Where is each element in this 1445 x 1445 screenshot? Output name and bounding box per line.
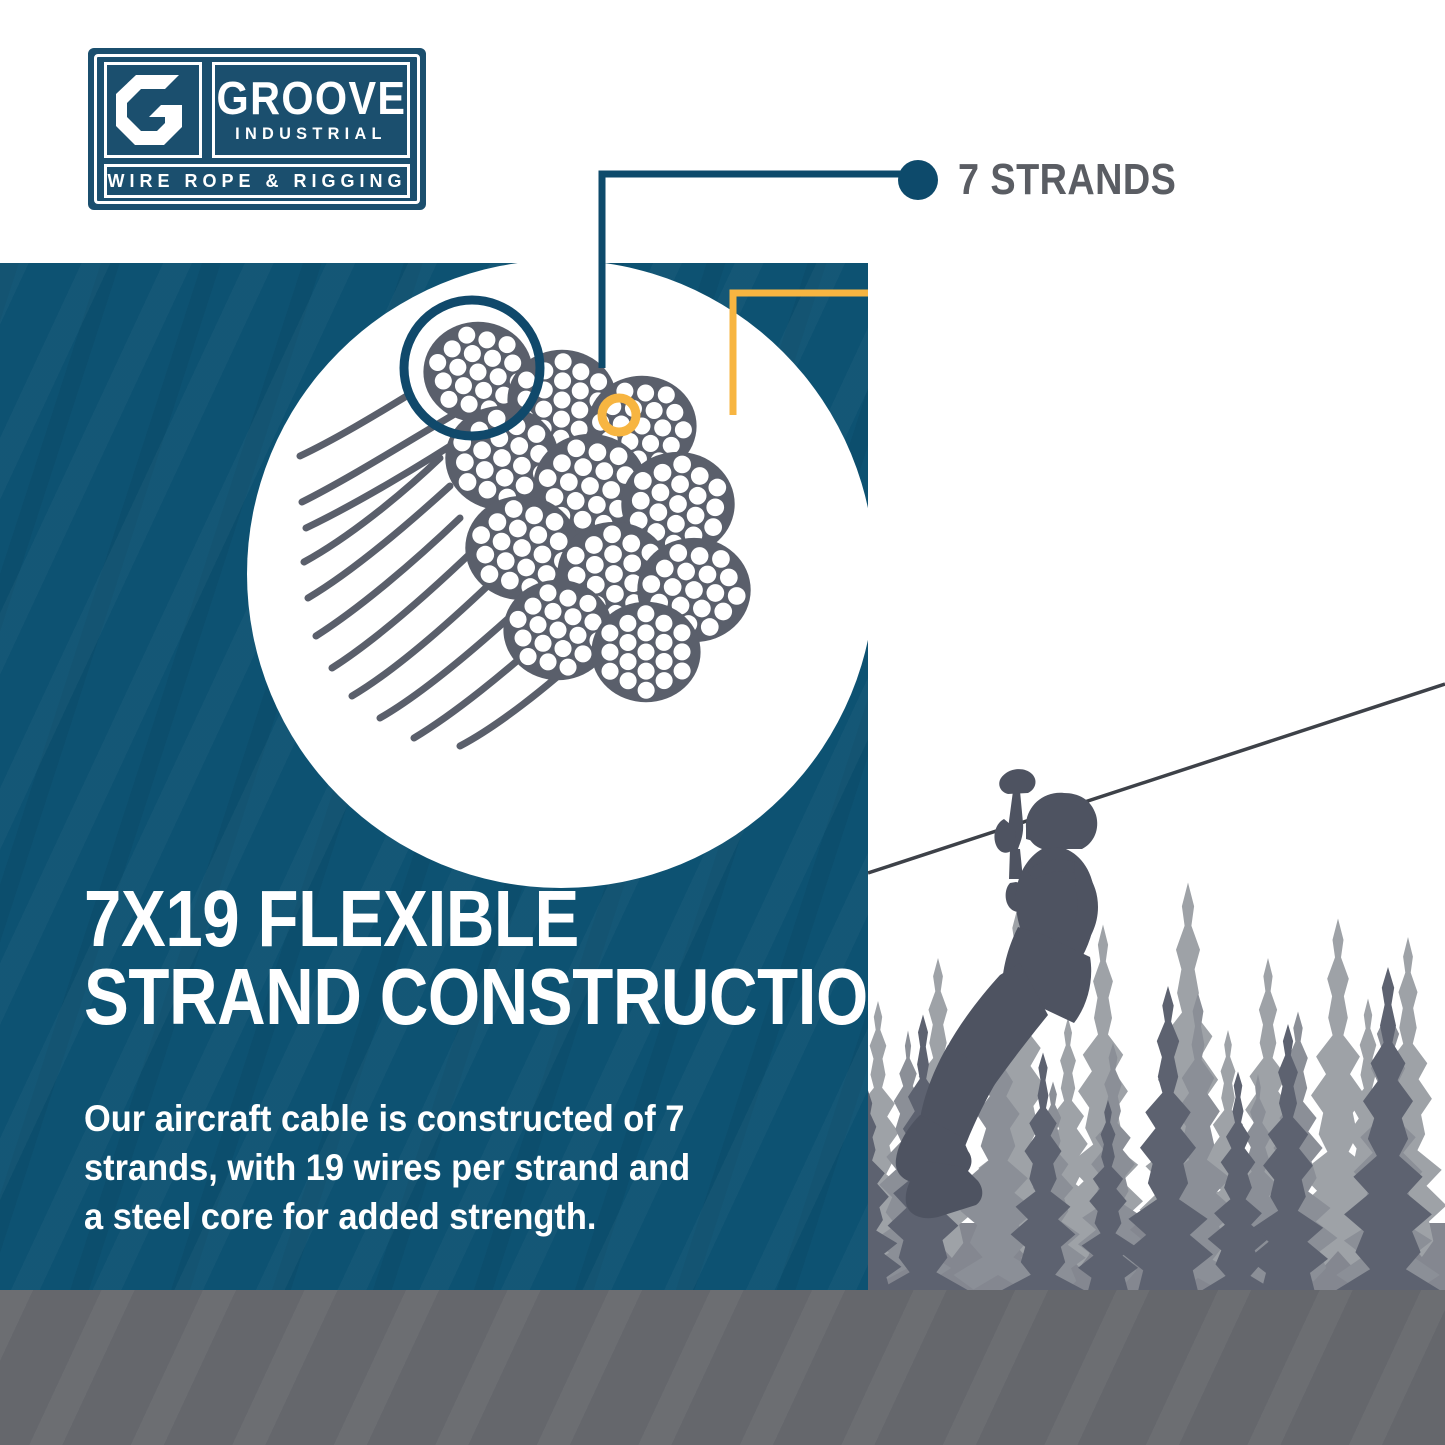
wire-rope-illustration xyxy=(290,290,820,750)
brand-logo[interactable]: GROOVE INDUSTRIAL WIRE ROPE & RIGGING xyxy=(88,48,426,210)
logo-g-box xyxy=(104,62,202,158)
callout-label: 7 STRANDS xyxy=(958,155,1176,205)
callout-dot-navy xyxy=(898,160,938,200)
zipline-cable xyxy=(868,684,1445,873)
infographic-canvas: GROOVE INDUSTRIAL WIRE ROPE & RIGGING 7X… xyxy=(0,0,1445,1445)
bottom-bar-stripes xyxy=(0,1290,1445,1445)
logo-brand-sub: INDUSTRIAL xyxy=(235,124,387,144)
logo-wordmark: GROOVE INDUSTRIAL xyxy=(212,62,410,158)
logo-tagline: WIRE ROPE & RIGGING xyxy=(107,171,406,192)
body-paragraph: Our aircraft cable is constructed of 7 s… xyxy=(84,1094,698,1242)
headline-line-1: 7X19 FLEXIBLE xyxy=(84,880,722,958)
groove-g-icon xyxy=(116,75,190,145)
bottom-accent-bar xyxy=(0,1290,1445,1445)
page-title: 7X19 FLEXIBLE STRAND CONSTRUCTION xyxy=(84,880,844,1037)
zipline-scene xyxy=(868,263,1445,1290)
headline-line-2: STRAND CONSTRUCTION xyxy=(84,958,722,1036)
logo-brand-name: GROOVE xyxy=(216,76,406,120)
callout-strands[interactable]: 7 STRANDS xyxy=(898,155,1212,205)
logo-tagline-bar: WIRE ROPE & RIGGING xyxy=(104,164,410,198)
